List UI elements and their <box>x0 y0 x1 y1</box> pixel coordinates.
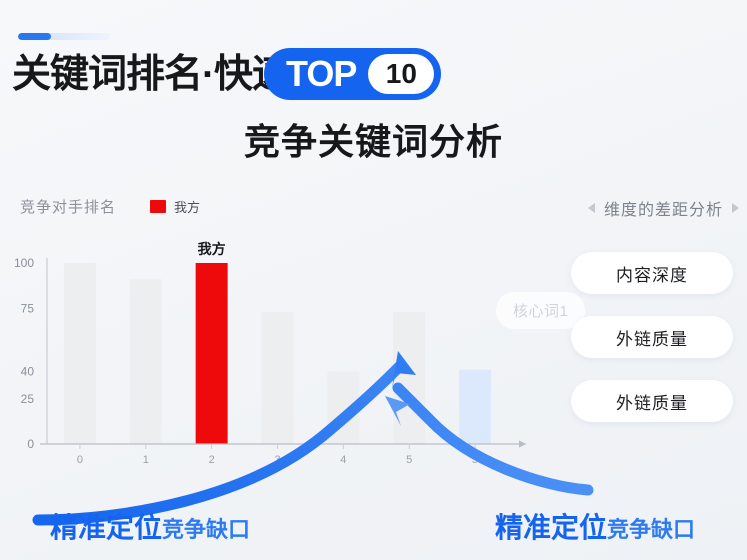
progress-bar-track <box>18 33 110 40</box>
competitor-ranking-chart: 1007540250我方0123455 <box>0 240 540 480</box>
headline: 关键词排名·快速 TOP 10 <box>12 46 441 102</box>
dimension-gap-header: 维度的差距分析 <box>588 196 739 220</box>
chart-bar-highlight <box>196 263 228 444</box>
caption-left: 精准定位 竞争缺口 <box>50 506 250 546</box>
caption-weak-text: 竞争缺口 <box>162 512 250 544</box>
x-axis-tick-label: 4 <box>340 454 346 466</box>
x-axis-tick-label: 3 <box>274 454 280 466</box>
dimension-gap-header-label: 维度的差距分析 <box>604 196 723 220</box>
y-axis-tick-label: 0 <box>27 437 34 451</box>
progress-bar-fill <box>18 33 51 40</box>
dimension-pill-label: 内容深度 <box>616 261 688 286</box>
caption-right: 精准定位 竞争缺口 <box>495 506 695 546</box>
caption-weak-text: 竞争缺口 <box>607 512 695 544</box>
x-axis-tick-label: 5 <box>406 454 412 466</box>
page-root: { "header": { "progress_percent": 36, "h… <box>0 0 747 560</box>
chart-bar <box>262 312 294 444</box>
page-title: 竞争关键词分析 <box>0 113 747 165</box>
chart-bar <box>64 263 96 444</box>
highlight-bar-label: 我方 <box>198 241 226 257</box>
legend-item-us: 我方 <box>150 197 200 216</box>
legend-item-label: 我方 <box>174 197 200 216</box>
chart-legend: 竞争对手排名 我方 <box>20 196 200 217</box>
caption-strong-text: 精准定位 <box>495 506 607 546</box>
chart-legend-title: 竞争对手排名 <box>20 196 116 217</box>
dimension-pill[interactable]: 外链质量 <box>571 380 733 422</box>
x-axis-tick-label: 1 <box>143 454 149 466</box>
top-badge-label: TOP <box>286 56 356 92</box>
y-axis-tick-label: 40 <box>21 365 35 379</box>
dimension-pill-label: 外链质量 <box>616 389 688 414</box>
y-axis-tick-label: 100 <box>14 256 34 270</box>
top-badge-number: 10 <box>368 54 434 94</box>
caption-strong-text: 精准定位 <box>50 506 162 546</box>
legend-swatch-icon <box>150 200 166 213</box>
dimension-pill-list: 内容深度 外链质量 外链质量 <box>571 252 733 422</box>
chart-bar <box>393 312 425 444</box>
dimension-pill[interactable]: 内容深度 <box>571 252 733 294</box>
x-axis-tick-label: 5 <box>472 454 478 466</box>
triangle-left-icon <box>588 203 595 213</box>
x-axis-tick-label: 0 <box>77 454 83 466</box>
y-axis-tick-label: 75 <box>21 301 35 315</box>
top-badge: TOP 10 <box>264 48 441 100</box>
dimension-pill-label: 外链质量 <box>616 325 688 350</box>
dimension-pill[interactable]: 外链质量 <box>571 316 733 358</box>
headline-text: 关键词排名·快速 <box>12 55 290 94</box>
x-axis-tick-label: 2 <box>209 454 215 466</box>
chart-bar <box>130 279 162 444</box>
x-axis-arrow-icon <box>519 440 526 447</box>
chart-canvas: 1007540250我方0123455 <box>0 240 540 480</box>
chart-bar <box>459 370 491 444</box>
triangle-right-icon <box>732 203 739 213</box>
y-axis-tick-label: 25 <box>21 392 35 406</box>
chart-bar <box>327 372 359 444</box>
